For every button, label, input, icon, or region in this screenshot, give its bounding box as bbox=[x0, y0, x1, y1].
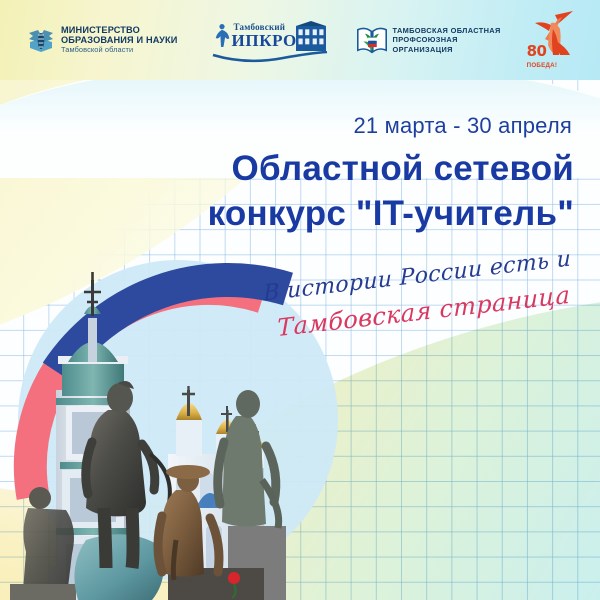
ministry-line3: Тамбовской области bbox=[61, 46, 178, 54]
victory-label: ПОБЕДА! bbox=[527, 62, 558, 69]
trade-union-line1: ТАМБОВСКАЯ ОБЛАСТНАЯ bbox=[393, 26, 501, 35]
trade-union-line3: ОРГАНИЗАЦИЯ bbox=[393, 45, 501, 54]
victory-number: 80 bbox=[527, 42, 547, 60]
logo-trade-union[interactable]: ТАМБОВСКАЯ ОБЛАСТНАЯ ПРОФСОЮЗНАЯ ОРГАНИЗ… bbox=[356, 25, 501, 55]
title-line-1: Областной сетевой bbox=[208, 147, 574, 192]
event-dates: 21 марта - 30 апреля bbox=[353, 113, 572, 139]
logo-ipkro[interactable]: Тамбовский ИПКРО bbox=[212, 17, 328, 63]
title-line-2: конкурс "IT-учитель" bbox=[208, 192, 574, 237]
ministry-line2: ОБРАЗОВАНИЯ И НАУКИ bbox=[61, 36, 178, 45]
trade-union-text: ТАМБОВСКАЯ ОБЛАСТНАЯ ПРОФСОЮЗНАЯ ОРГАНИЗ… bbox=[393, 26, 501, 54]
swoosh-underline-icon bbox=[212, 51, 328, 63]
trade-union-book-leaf-icon bbox=[356, 25, 388, 55]
logo-victory-80[interactable]: 80 ПОБЕДА! bbox=[525, 11, 579, 69]
ipkro-figure-icon bbox=[214, 23, 230, 47]
poster-canvas: МИНИСТЕРСТВО ОБРАЗОВАНИЯ И НАУКИ Тамбовс… bbox=[0, 0, 600, 600]
institute-building-icon bbox=[294, 21, 328, 51]
page-title: Областной сетевой конкурс "IT-учитель" bbox=[208, 147, 574, 237]
trade-union-line2: ПРОФСОЮЗНАЯ bbox=[393, 35, 501, 44]
ministry-text: МИНИСТЕРСТВО ОБРАЗОВАНИЯ И НАУКИ Тамбовс… bbox=[61, 26, 178, 53]
logo-strip: МИНИСТЕРСТВО ОБРАЗОВАНИЯ И НАУКИ Тамбовс… bbox=[0, 0, 600, 80]
ministry-emblem-icon bbox=[26, 25, 56, 55]
ipkro-main-word: ИПКРО bbox=[232, 31, 297, 51]
logo-ministry[interactable]: МИНИСТЕРСТВО ОБРАЗОВАНИЯ И НАУКИ Тамбовс… bbox=[26, 25, 178, 55]
